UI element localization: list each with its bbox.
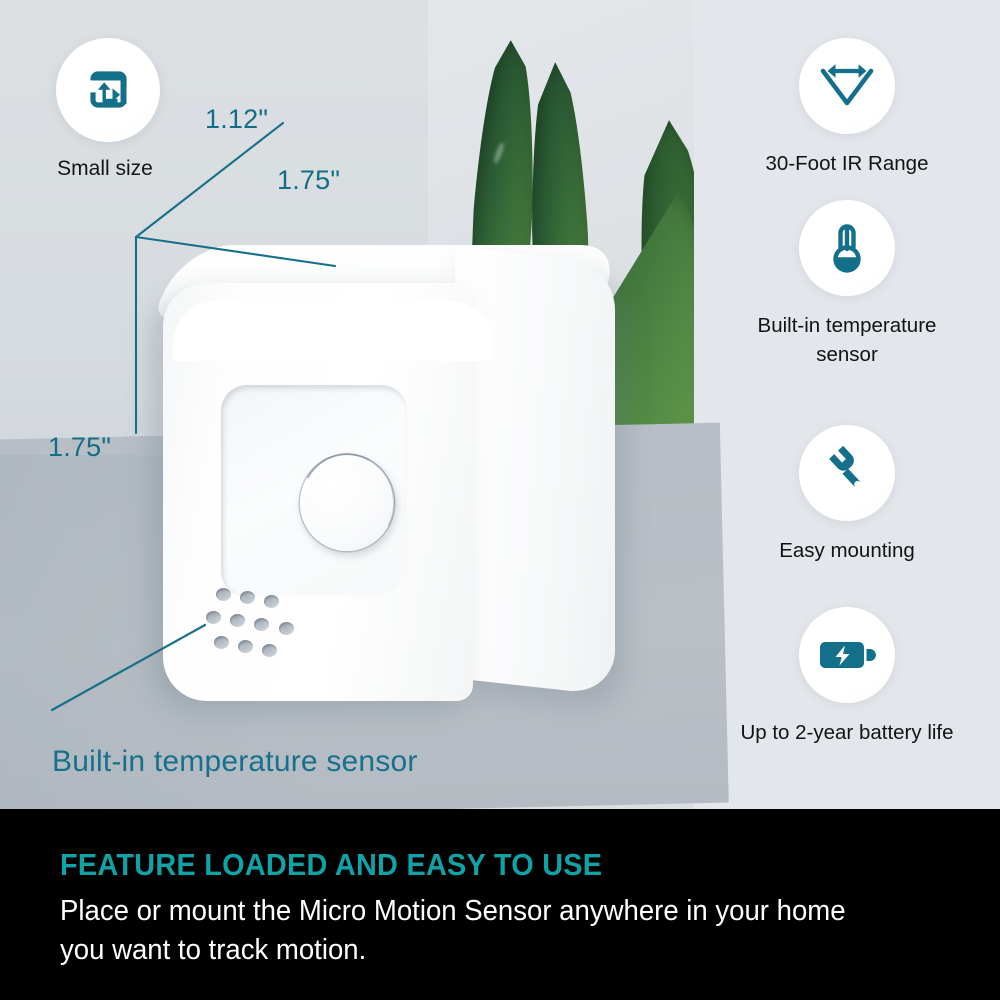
dimension-depth-label: 1.12" (205, 104, 268, 135)
feature-icon-circle (799, 200, 895, 296)
infographic-canvas: 1.12" 1.75" 1.75" Built-in temperature s… (0, 0, 1000, 1000)
feature-ir-range: 30-Foot IR Range (694, 38, 1000, 178)
feature-ir-range-label: 30-Foot IR Range (694, 149, 1000, 178)
feature-easy-mounting: Easy mounting (694, 425, 1000, 565)
badge-small-size: Small size (56, 38, 160, 183)
left-photo-panel-background: 1.12" 1.75" 1.75" Built-in temperature s… (0, 0, 694, 809)
feature-temperature-sensor: Built-in temperature sensor (694, 200, 1000, 369)
range-cone-arrow-icon (818, 62, 876, 110)
banner-heading: FEATURE LOADED AND EASY TO USE (60, 847, 878, 883)
dimension-height-label: 1.75" (48, 432, 111, 463)
bottom-banner: FEATURE LOADED AND EASY TO USE Place or … (0, 809, 1000, 1000)
feature-battery-life-label: Up to 2-year battery life (694, 718, 1000, 747)
banner-body: Place or mount the Micro Motion Sensor a… (60, 892, 896, 969)
dimension-width-label: 1.75" (277, 165, 340, 196)
badge-circle (56, 38, 160, 142)
feature-icon-circle (799, 38, 895, 134)
feature-temperature-sensor-label: Built-in temperature sensor (694, 311, 1000, 369)
feature-icon-circle (799, 607, 895, 703)
wrench-icon (820, 446, 874, 500)
feature-easy-mounting-label: Easy mounting (694, 536, 1000, 565)
thermometer-icon (827, 221, 867, 275)
feature-list: 30-Foot IR Range Built-in temperature se… (694, 0, 1000, 809)
resize-square-arrows-icon (82, 64, 134, 116)
battery-charge-icon (818, 637, 876, 673)
callout-temperature-sensor-label: Built-in temperature sensor (52, 745, 418, 779)
feature-battery-life: Up to 2-year battery life (694, 607, 1000, 747)
badge-small-size-label: Small size (53, 156, 157, 183)
feature-icon-circle (799, 425, 895, 521)
